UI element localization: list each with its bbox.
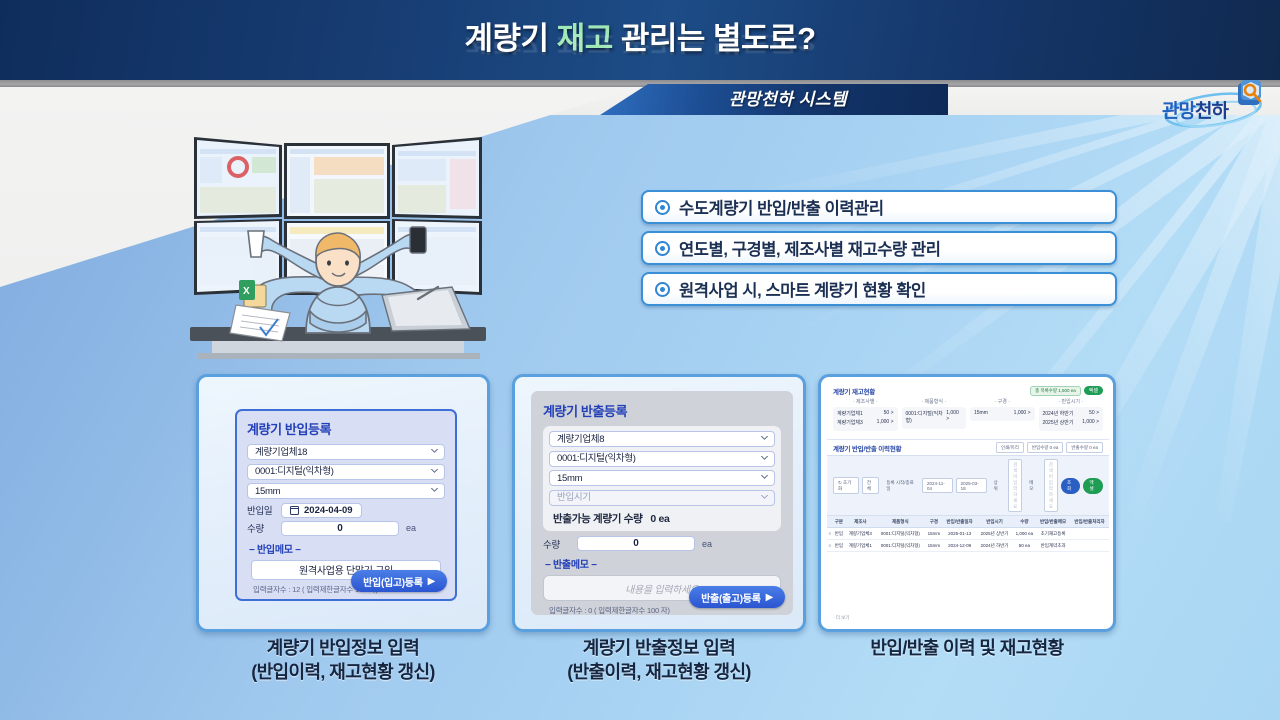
history-outbound-chip[interactable]: 반출수량 0 ea	[1066, 442, 1103, 453]
stock-stat-group: · 제조사별 · 계량기업체150 > 계량기업체31,000 >	[833, 398, 898, 431]
history-from-input[interactable]: 검색어 입력하세요	[1008, 459, 1022, 512]
stock-stat-box: 2024년 하반기50 > 2025년 상반기1,000 >	[1039, 407, 1104, 431]
history-col-5: 반입/반출일자	[943, 516, 977, 528]
stock-section-title: 계량기 재고현황	[827, 383, 875, 398]
history-inbound-chip[interactable]: 반입수량 0 ea	[1027, 442, 1064, 453]
row-cell: 반입	[833, 528, 845, 540]
row-cell: 0001:디지털(익차형)	[876, 540, 926, 552]
history-to-input[interactable]: 검색어 입력하세요	[1044, 459, 1058, 512]
panel-inbound-registration: 계량기 반입등록 계량기업체18 0001:디지털(익차형) 15mm 반입일 …	[196, 374, 490, 632]
history-col-4: 구경	[925, 516, 943, 528]
outbound-submit-label: 반출(출고)등록	[701, 590, 760, 605]
outbound-memo-label: 반출메모	[553, 560, 589, 571]
inbound-qty-row: 수량 0 ea	[247, 521, 445, 536]
history-table-header-row: 구분 제조사 제품형식 구경 반입/반출일자 반입시기 수량 반입/반출메모 반…	[827, 516, 1109, 528]
inbound-form-title: 계량기 반입등록	[247, 419, 445, 438]
feature-bullet-list: 수도계량기 반입/반출 이력관리 연도별, 구경별, 제조사별 재고수량 관리 …	[641, 190, 1117, 313]
play-arrow-icon: ▶	[766, 592, 773, 603]
feature-bullet-1: 수도계량기 반입/반출 이력관리	[641, 190, 1117, 224]
panel-outbound-caption: 계량기 반출정보 입력 (반출이력, 재고현황 갱신)	[512, 636, 806, 684]
history-col-8: 반입/반출메모	[1036, 516, 1070, 528]
stat-label: 15mm	[974, 410, 988, 416]
panel-outbound-caption-line2: (반출이력, 재고현황 갱신)	[512, 660, 806, 684]
outbound-company-value: 계량기업체8	[557, 432, 604, 447]
page-title-reflection: 계량기 재고 관리는 별도로?	[0, 28, 1280, 62]
inbound-memo-label: 반입메모	[257, 545, 293, 556]
chevron-down-icon	[431, 469, 438, 473]
calendar-icon	[290, 506, 299, 515]
outbound-form: 계량기 반출등록 계량기업체8 0001:디지털(익차형) 15mm 반입시기	[531, 391, 793, 615]
history-col-2: 제조사	[845, 516, 875, 528]
inbound-submit-label: 반입(입고)등록	[363, 574, 422, 589]
row-cell	[1070, 540, 1109, 552]
stock-stat-caption: · 제조사별 ·	[833, 398, 898, 405]
stock-stat-row[interactable]: 0001:디지털(익차형)1,000 >	[906, 410, 963, 424]
stat-label: 2025년 상반기	[1043, 419, 1074, 426]
inbound-company-select[interactable]: 계량기업체18	[247, 444, 445, 460]
logo-wordmark-part-2: 천하	[1195, 101, 1228, 122]
stock-excel-button[interactable]: 엑셀	[1084, 386, 1103, 395]
stock-stat-group: · 반입시기 · 2024년 하반기50 > 2025년 상반기1,000 >	[1039, 398, 1104, 431]
target-bullet-icon	[655, 200, 670, 215]
history-date-from[interactable]: 2024-11-04	[922, 478, 953, 493]
outbound-available-value: 0 ea	[650, 513, 669, 525]
inbound-date-label: 반입일	[247, 503, 281, 517]
stock-stat-caption: · 제품형식 ·	[902, 398, 967, 405]
row-cell: 반입계약초과	[1036, 540, 1070, 552]
history-table: 구분 제조사 제품형식 구경 반입/반출일자 반입시기 수량 반입/반출메모 반…	[827, 516, 1109, 552]
chevron-down-icon	[431, 488, 438, 492]
history-col-7: 수량	[1013, 516, 1037, 528]
outbound-counter-label: 입력글자수 :	[549, 606, 586, 615]
stock-stat-caption: · 반입시기 ·	[1039, 398, 1104, 405]
row-cell: 계량기업체1	[845, 540, 875, 552]
history-search-button[interactable]: 조회	[1061, 478, 1081, 494]
multitasking-operator-illustration: X	[186, 127, 491, 362]
stock-stat-group: · 제품형식 · 0001:디지털(익차형)1,000 >	[902, 398, 967, 431]
logo-wordmark-part-1: 관망	[1162, 101, 1195, 122]
memo-dash-left: −	[545, 560, 553, 571]
stock-stat-row[interactable]: 15mm1,000 >	[974, 410, 1031, 416]
history-print-chip[interactable]: 인쇄/미리	[996, 442, 1024, 453]
feature-bullet-1-label: 수도계량기 반입/반출 이력관리	[679, 195, 884, 219]
feature-bullet-3: 원격사업 시, 스마트 계량기 현황 확인	[641, 272, 1117, 306]
history-col-6: 반입시기	[977, 516, 1013, 528]
chevron-down-icon	[761, 475, 768, 479]
panel-history-and-stock: 계량기 재고현황 총 목록수량 1,500 ea 엑셀 · 제조사별 · 계량기…	[818, 374, 1116, 632]
stat-label: 계량기업체1	[837, 410, 863, 417]
inbound-counter-value: 12	[292, 585, 300, 594]
inbound-form: 계량기 반입등록 계량기업체18 0001:디지털(익차형) 15mm 반입일 …	[235, 409, 457, 601]
outbound-type-value: 0001:디지털(익차형)	[557, 451, 636, 466]
row-cell: 2024-12-09	[943, 540, 977, 552]
inbound-memo-header: − 반입메모 −	[249, 541, 445, 556]
table-row[interactable]: ○ 반입 계량기업체1 0001:디지털(익차형) 15mm 2024-12-0…	[827, 540, 1109, 552]
chevron-down-icon	[761, 495, 768, 499]
stat-value: 1,000 >	[1014, 410, 1031, 416]
slide-root: 계량기 재고 관리는 별도로? 계량기 재고 관리는 별도로? 관망천하 시스템…	[0, 0, 1280, 720]
panel-inbound-caption-line2: (반입이력, 재고현황 갱신)	[196, 660, 490, 684]
inbound-qty-label: 수량	[247, 521, 281, 535]
row-cell: 2025-01-13	[943, 528, 977, 540]
row-cell: 15mm	[925, 528, 943, 540]
history-range-label: 등록 시작/종료일	[882, 478, 919, 493]
outbound-select-group: 계량기업체8 0001:디지털(익차형) 15mm 반입시기 반출가능 계량기 …	[543, 426, 781, 531]
inbound-company-value: 계량기업체18	[255, 445, 307, 460]
target-bullet-icon	[655, 241, 670, 256]
inbound-type-value: 0001:디지털(익차형)	[255, 464, 334, 479]
stock-stat-row[interactable]: 2025년 상반기1,000 >	[1043, 419, 1100, 426]
history-reset-button[interactable]: ↻ 초기화	[833, 477, 859, 494]
chevron-down-icon	[431, 449, 438, 453]
outbound-memo-header: − 반출메모 −	[545, 556, 781, 571]
row-cell	[1070, 528, 1109, 540]
row-cell: 15mm	[925, 540, 943, 552]
history-col-9: 반입/반출처리자	[1070, 516, 1109, 528]
inbound-submit-button[interactable]: 반입(입고)등록 ▶	[351, 570, 447, 592]
outbound-size-select[interactable]: 15mm	[549, 470, 775, 486]
chevron-down-icon	[761, 456, 768, 460]
stat-value: 50 >	[1089, 410, 1099, 417]
logo-wordmark: 관망천하	[1162, 96, 1228, 123]
outbound-available-label: 반출가능 계량기 수량	[553, 513, 642, 525]
outbound-qty-row: 수량 0 ea	[543, 536, 781, 551]
panel-outbound-caption-line1: 계량기 반출정보 입력	[512, 636, 806, 660]
row-cell: 0001:디지털(익차형)	[876, 528, 926, 540]
feature-bullet-2: 연도별, 구경별, 제조사별 재고수량 관리	[641, 231, 1117, 265]
outbound-size-value: 15mm	[557, 471, 582, 486]
history-filter-toolbar: ↻ 초기화 전체 등록 시작/종료일 2024-11-04 2025-03-18…	[827, 455, 1109, 516]
stat-value: 50 >	[884, 410, 894, 417]
inbound-date-value: 2024-04-09	[304, 505, 353, 516]
row-cell: 2024년 하반기	[977, 540, 1013, 552]
row-cell: 1,000 ea	[1013, 528, 1037, 540]
inbound-date-input[interactable]: 2024-04-09	[281, 503, 362, 518]
chevron-down-icon	[761, 436, 768, 440]
inbound-date-row: 반입일 2024-04-09	[247, 503, 445, 518]
stock-stat-caption: · 구경 ·	[970, 398, 1035, 405]
history-more-link[interactable]: · 더 보기	[833, 615, 849, 621]
stat-label: 계량기업체3	[837, 419, 863, 426]
stock-stat-groups: · 제조사별 · 계량기업체150 > 계량기업체31,000 > · 제품형식…	[827, 398, 1109, 431]
panel-outbound-registration: 계량기 반출등록 계량기업체8 0001:디지털(익차형) 15mm 반입시기	[512, 374, 806, 632]
stat-value: 1,000 >	[946, 410, 962, 424]
outbound-available-row: 반출가능 계량기 수량 0 ea	[549, 509, 775, 526]
outbound-counter-limit: ( 입력제한글자수 100 자)	[594, 606, 670, 615]
panel-inbound-caption-line1: 계량기 반입정보 입력	[196, 636, 490, 660]
inbound-qty-input[interactable]: 0	[281, 521, 399, 536]
outbound-counter-value: 0	[588, 606, 592, 615]
stat-label: 2024년 하반기	[1043, 410, 1074, 417]
outbound-company-select[interactable]: 계량기업체8	[549, 431, 775, 447]
stat-value: 1,000 >	[1082, 419, 1099, 426]
stock-stat-row[interactable]: 계량기업체150 >	[837, 410, 894, 417]
feature-bullet-3-label: 원격사업 시, 스마트 계량기 현황 확인	[679, 277, 926, 301]
svg-text:X: X	[243, 286, 250, 297]
inbound-size-value: 15mm	[255, 484, 280, 499]
history-excel-button[interactable]: 엑셀	[1083, 478, 1103, 494]
header-bar: 계량기 재고 관리는 별도로? 계량기 재고 관리는 별도로?	[0, 0, 1280, 80]
target-bullet-icon	[655, 282, 670, 297]
inbound-qty-unit: ea	[406, 523, 416, 533]
outbound-submit-button[interactable]: 반출(출고)등록 ▶	[689, 586, 785, 608]
stock-stat-row[interactable]: 2024년 하반기50 >	[1043, 410, 1100, 417]
row-cell: 초기재고등록	[1036, 528, 1070, 540]
row-cell: 50 ea	[1013, 540, 1037, 552]
stock-stat-box: 계량기업체150 > 계량기업체31,000 >	[833, 407, 898, 431]
table-row[interactable]: ○ 반입 계량기업체3 0001:디지털(익차형) 15mm 2025-01-1…	[827, 528, 1109, 540]
stock-stat-box: 0001:디지털(익차형)1,000 >	[902, 407, 967, 429]
history-section: 계량기 반입/반출 이력현황 인쇄/미리 반입수량 0 ea 반출수량 0 ea…	[827, 439, 1109, 552]
outbound-period-placeholder: 반입시기	[557, 490, 591, 505]
row-cell: 2025년 상반기	[977, 528, 1013, 540]
outbound-period-select[interactable]: 반입시기	[549, 490, 775, 506]
panel-inbound-caption: 계량기 반입정보 입력 (반입이력, 재고현황 갱신)	[196, 636, 490, 684]
inbound-size-select[interactable]: 15mm	[247, 483, 445, 499]
memo-dash-left: −	[249, 545, 257, 556]
panel-history-caption: 반입/반출 이력 및 재고현황	[818, 636, 1116, 660]
stat-label: 0001:디지털(익차형)	[906, 410, 947, 424]
play-arrow-icon: ▶	[428, 576, 435, 587]
history-from-label: 상위	[990, 478, 1006, 493]
row-cell: 계량기업체3	[845, 528, 875, 540]
history-col-3: 제품형식	[876, 516, 926, 528]
stat-value: 1,000 >	[877, 419, 894, 426]
brand-logo: 관망천하	[1158, 78, 1268, 134]
feature-bullet-2-label: 연도별, 구경별, 제조사별 재고수량 관리	[679, 236, 941, 260]
history-to-label: 메모	[1025, 478, 1041, 493]
history-section-title: 계량기 반입/반출 이력현황	[827, 440, 901, 455]
stock-stat-box: 15mm1,000 >	[970, 407, 1035, 421]
stock-stat-row[interactable]: 계량기업체31,000 >	[837, 419, 894, 426]
memo-dash-right: −	[293, 545, 301, 556]
system-banner-label: 관망천하 시스템	[600, 86, 948, 114]
outbound-form-title: 계량기 반출등록	[543, 401, 781, 420]
history-type-select[interactable]: 전체	[862, 477, 880, 494]
history-date-to[interactable]: 2025-03-18	[956, 478, 987, 493]
panel-history-caption-line1: 반입/반출 이력 및 재고현황	[818, 636, 1116, 660]
stock-total-chip[interactable]: 총 목록수량 1,500 ea	[1030, 386, 1081, 396]
outbound-qty-label: 수량	[543, 537, 577, 551]
stock-stat-group: · 구경 · 15mm1,000 >	[970, 398, 1035, 431]
stock-app-screenshot: 계량기 재고현황 총 목록수량 1,500 ea 엑셀 · 제조사별 · 계량기…	[827, 383, 1109, 625]
inbound-type-select[interactable]: 0001:디지털(익차형)	[247, 464, 445, 480]
row-cell: 반입	[833, 540, 845, 552]
history-col-1: 구분	[833, 516, 845, 528]
outbound-qty-input[interactable]: 0	[577, 536, 695, 551]
inbound-counter-label: 입력글자수 :	[253, 585, 290, 594]
outbound-type-select[interactable]: 0001:디지털(익차형)	[549, 451, 775, 467]
outbound-qty-unit: ea	[702, 539, 712, 549]
memo-dash-right: −	[589, 560, 597, 571]
